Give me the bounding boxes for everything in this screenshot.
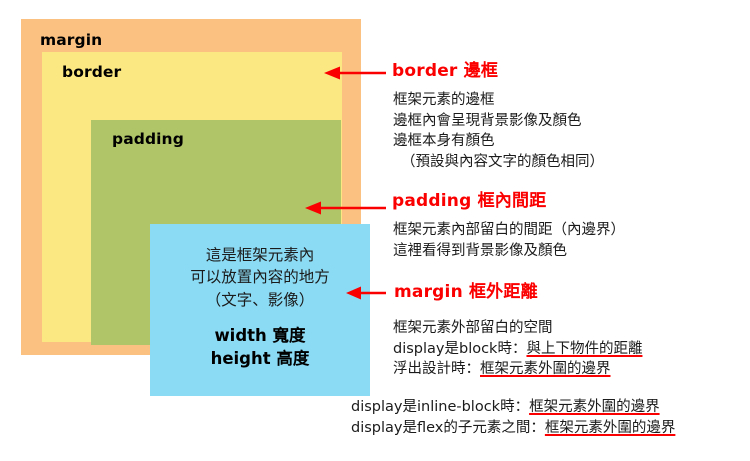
annotation-line: （預設與內容文字的顏色相同） bbox=[393, 152, 604, 173]
arrow-to-border-icon bbox=[322, 64, 386, 82]
annotation-line-emphasis: 框架元素外圍的邊界 bbox=[529, 399, 660, 415]
annotation-heading-padding: padding 框內間距 bbox=[392, 193, 546, 210]
padding-box: padding 這是框架元素內 可以放置內容的地方 （文字、影像） width … bbox=[91, 120, 341, 345]
box-model-diagram: margin border padding 這是框架元素內 可以放置內容的地方 … bbox=[21, 19, 361, 355]
content-dimensions: width 寬度 height 高度 bbox=[211, 325, 310, 370]
margin-box: margin border padding 這是框架元素內 可以放置內容的地方 … bbox=[21, 19, 361, 355]
padding-box-label: padding bbox=[112, 132, 184, 148]
annotation-line-text: display是inline-block時： bbox=[351, 399, 529, 415]
content-text-line: （文字、影像） bbox=[206, 289, 315, 311]
annotation-line: 這裡看得到背景影像及顏色 bbox=[393, 241, 625, 262]
annotation-line-text: display是block時： bbox=[393, 341, 526, 357]
annotation-line-emphasis: 與上下物件的距離 bbox=[526, 341, 642, 357]
annotation-line: 浮出設計時：框架元素外圍的邊界 bbox=[393, 359, 642, 380]
annotation-body-border: 框架元素的邊框 邊框內會呈現背景影像及顏色 邊框本身有顏色 （預設與內容文字的顏… bbox=[393, 90, 604, 172]
annotation-line: display是flex的子元素之間：框架元素外圍的邊界 bbox=[351, 418, 675, 439]
border-box: border padding 這是框架元素內 可以放置內容的地方 （文字、影像）… bbox=[42, 52, 342, 342]
annotation-line: 框架元素外部留白的空間 bbox=[393, 318, 642, 339]
annotation-line-emphasis: 框架元素外圍的邊界 bbox=[545, 420, 676, 436]
annotation-line: 框架元素的邊框 bbox=[393, 90, 604, 111]
annotation-line: 邊框本身有顏色 bbox=[393, 131, 604, 152]
content-height-label: height 高度 bbox=[211, 348, 310, 370]
annotation-heading-border: border 邊框 bbox=[392, 63, 498, 80]
annotation-heading-margin: margin 框外距離 bbox=[394, 284, 538, 301]
annotation-body-padding: 框架元素內部留白的間距（內邊界） 這裡看得到背景影像及顏色 bbox=[393, 220, 625, 261]
annotation-line: display是block時：與上下物件的距離 bbox=[393, 339, 642, 360]
arrow-to-padding-icon bbox=[303, 199, 386, 217]
border-box-label: border bbox=[62, 65, 121, 81]
content-width-label: width 寬度 bbox=[211, 325, 310, 347]
content-box: 這是框架元素內 可以放置內容的地方 （文字、影像） width 寬度 heigh… bbox=[150, 224, 370, 396]
annotation-line-text: 浮出設計時： bbox=[393, 361, 480, 377]
annotation-line: 框架元素內部留白的間距（內邊界） bbox=[393, 220, 625, 241]
annotation-line: 邊框內會呈現背景影像及顏色 bbox=[393, 111, 604, 132]
annotation-body-margin: 框架元素外部留白的空間 display是block時：與上下物件的距離 浮出設計… bbox=[393, 318, 642, 380]
annotation-line: display是inline-block時：框架元素外圍的邊界 bbox=[351, 397, 675, 418]
annotation-line-text: 框架元素外部留白的空間 bbox=[393, 320, 553, 336]
annotation-line-emphasis: 框架元素外圍的邊界 bbox=[480, 361, 611, 377]
annotation-body-margin-extra: display是inline-block時：框架元素外圍的邊界 display是… bbox=[351, 397, 675, 438]
content-text-line: 這是框架元素內 bbox=[206, 244, 315, 266]
margin-box-label: margin bbox=[40, 33, 102, 49]
content-text-line: 可以放置內容的地方 bbox=[190, 266, 330, 288]
annotation-line-text: display是flex的子元素之間： bbox=[351, 420, 545, 436]
arrow-to-margin-icon bbox=[344, 284, 386, 302]
